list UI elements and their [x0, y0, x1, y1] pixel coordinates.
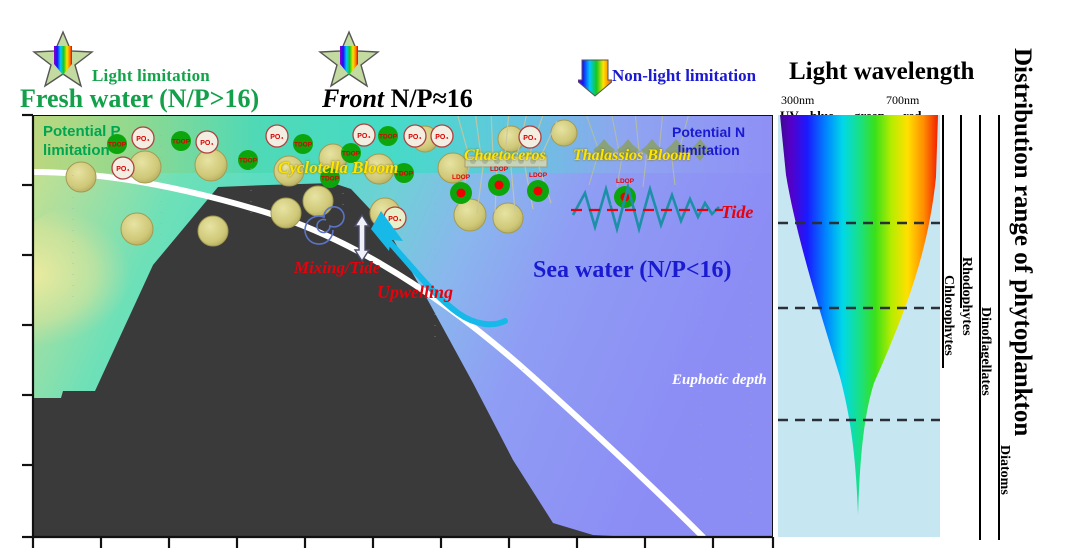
label-dinoflagellates: Dinoflagellates: [977, 307, 993, 396]
title-distribution-range: Distribution range of phytoplankton: [1008, 48, 1036, 436]
figure-root: Light limitation Fresh water (N/P>16) Fr…: [0, 0, 1073, 557]
label-rhodophytes: Rhodophytes: [958, 257, 974, 336]
label-diatoms: Diatoms: [996, 445, 1012, 495]
label-chlorophytes: Chlorophytes: [940, 275, 956, 356]
light-spectrum-panel: [778, 115, 940, 537]
spectrum-svg: [778, 115, 940, 537]
label-wavelength-300nm: 300nm: [781, 93, 814, 108]
label-wavelength-700nm: 700nm: [886, 93, 919, 108]
distribution-range-bars: Chlorophytes Rhodophytes Dinoflagellates…: [938, 115, 998, 540]
